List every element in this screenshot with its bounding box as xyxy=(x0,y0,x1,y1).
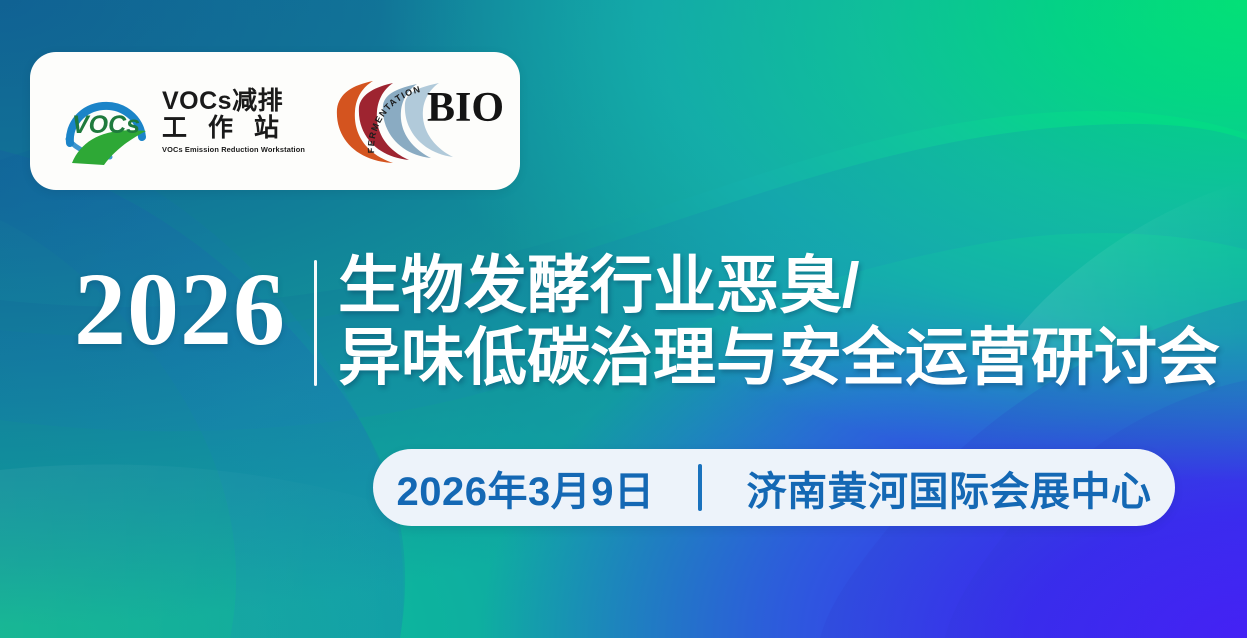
svg-text:VOCs: VOCs xyxy=(72,111,140,139)
title-line-2: 异味低碳治理与安全运营研讨会 xyxy=(338,322,1218,394)
vocs-subtitle-en: VOCs Emission Reduction Workstation xyxy=(162,145,305,154)
year-2026: 2026 xyxy=(60,258,300,362)
vocs-workstation-logo: VOCs VOCs减排 工 作 站 VOCs Emission Reductio… xyxy=(58,77,305,165)
headline-divider xyxy=(314,260,317,386)
bio-fermentation-logo: FERMENTATION BIO xyxy=(331,75,511,167)
vocs-arc-wing-mark-icon: VOCs xyxy=(58,77,154,165)
conference-banner: VOCs VOCs减排 工 作 站 VOCs Emission Reductio… xyxy=(0,0,1247,638)
svg-text:BIO: BIO xyxy=(427,85,504,131)
vocs-title-line1: VOCs减排 xyxy=(162,88,305,115)
page-title: 生物发酵行业恶臭/ 异味低碳治理与安全运营研讨会 xyxy=(338,250,1218,394)
logo-badge: VOCs VOCs减排 工 作 站 VOCs Emission Reductio… xyxy=(30,52,520,190)
vocs-title-line2: 工 作 站 xyxy=(162,115,305,142)
event-info-separator xyxy=(698,464,702,511)
vocs-logo-text: VOCs减排 工 作 站 VOCs Emission Reduction Wor… xyxy=(162,88,305,154)
event-date: 2026年3月9日 xyxy=(397,459,655,517)
event-venue: 济南黄河国际会展中心 xyxy=(746,459,1151,517)
title-line-1: 生物发酵行业恶臭/ xyxy=(338,250,1218,322)
event-info-pill: 2026年3月9日 济南黄河国际会展中心 xyxy=(373,449,1175,526)
